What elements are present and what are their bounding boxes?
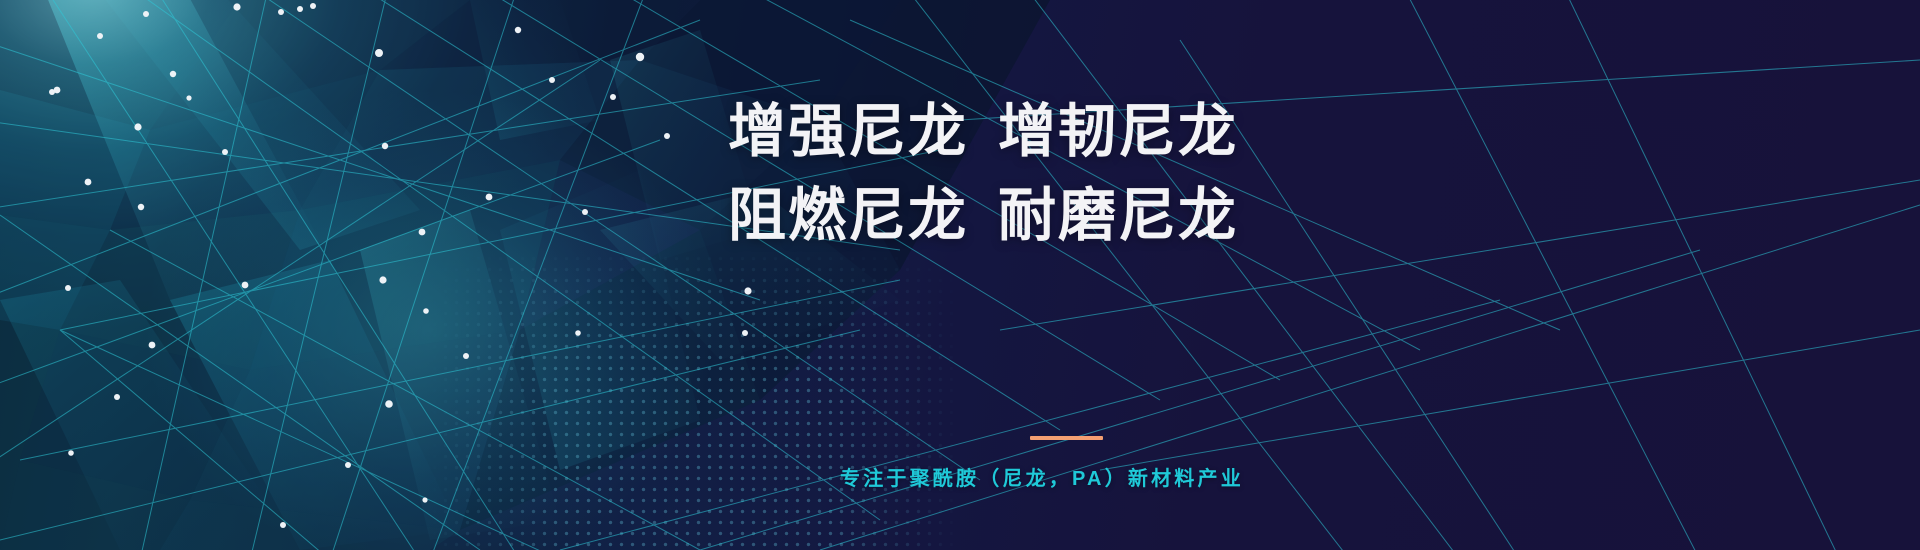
headline-2-right: 耐磨尼龙	[998, 183, 1238, 248]
headline-2-left: 阻燃尼龙	[728, 183, 968, 248]
headline-line-2: 阻燃尼龙耐磨尼龙	[728, 174, 1248, 258]
headline-line-1: 增强尼龙增韧尼龙	[728, 90, 1248, 174]
hero-banner: 增强尼龙增韧尼龙 阻燃尼龙耐磨尼龙 专注于聚酰胺（尼龙，PA）新材料产业	[0, 0, 1920, 550]
accent-divider	[1030, 436, 1103, 440]
headline-1-right: 增韧尼龙	[998, 99, 1238, 164]
headline-1-left: 增强尼龙	[728, 99, 968, 164]
banner-content: 增强尼龙增韧尼龙 阻燃尼龙耐磨尼龙 专注于聚酰胺（尼龙，PA）新材料产业	[728, 0, 1728, 550]
headline-block: 增强尼龙增韧尼龙 阻燃尼龙耐磨尼龙	[728, 90, 1248, 258]
divider-wrap	[1030, 436, 1230, 440]
subtitle-text: 专注于聚酰胺（尼龙，PA）新材料产业	[840, 462, 1244, 491]
